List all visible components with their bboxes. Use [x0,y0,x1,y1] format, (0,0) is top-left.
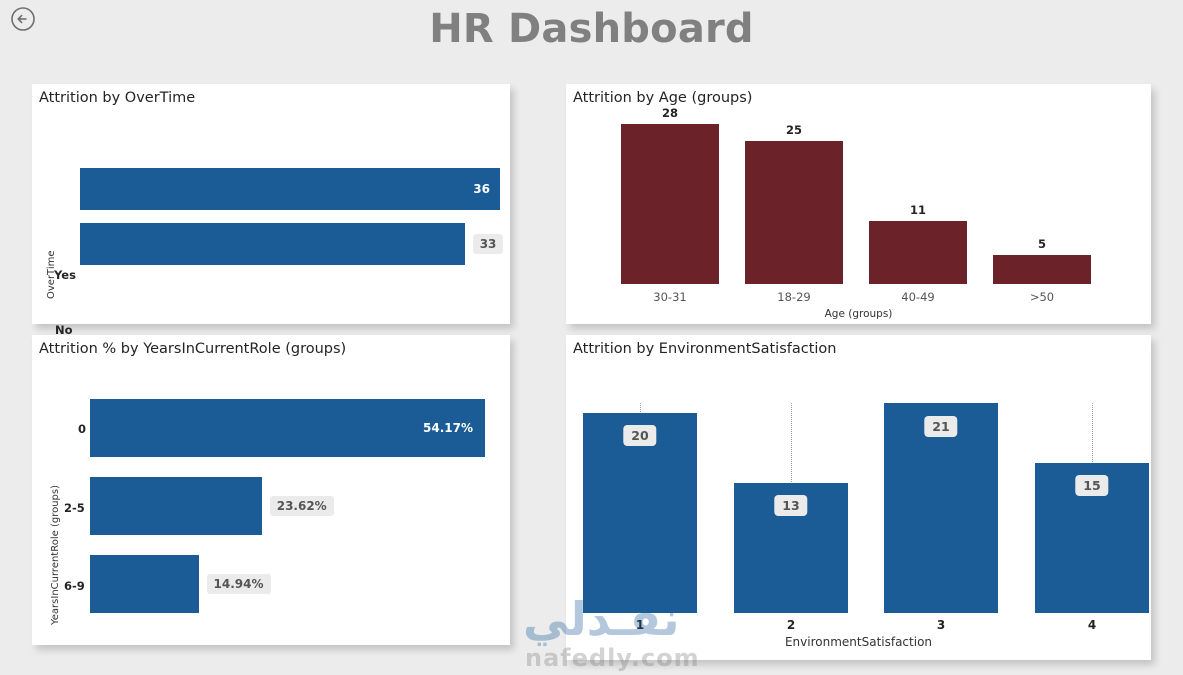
bar-value-label-yes: 36 [473,182,490,196]
bar-40-49[interactable] [869,221,967,284]
chart-title: Attrition % by YearsInCurrentRole (group… [39,341,346,357]
bar-row-yes[interactable]: 36 [80,168,500,210]
bar-value-label-over-50: 5 [993,237,1091,251]
bar-value-label-6-9: 14.94% [207,574,271,594]
chart-card-attrition-by-environmentsatisfaction[interactable]: Attrition by EnvironmentSatisfaction 20 … [566,335,1151,660]
x-tick-3: 3 [884,618,998,632]
chart-title: Attrition by Age (groups) [573,90,752,106]
bar-no[interactable] [80,223,465,265]
bar-col-40-49[interactable]: 11 [869,124,967,284]
app-header: HR Dashboard [0,0,1183,68]
bar-18-29[interactable] [745,141,843,284]
category-label-yes: Yes [54,268,76,282]
bar-value-label-2-5: 23.62% [270,496,334,516]
x-tick-1: 1 [583,618,697,632]
category-label-2-5: 2-5 [64,501,85,515]
plot-area: 28 25 11 5 [616,124,1116,284]
category-label-0: 0 [78,422,86,436]
bar-yes[interactable] [80,168,500,210]
bar-over-50[interactable] [993,255,1091,284]
chart-title: Attrition by EnvironmentSatisfaction [573,341,837,357]
bar-value-label-30-31: 28 [621,106,719,120]
bar-row-no[interactable]: 33 [80,223,500,265]
x-axis-title: EnvironmentSatisfaction [566,635,1151,649]
chart-card-attrition-by-age-groups[interactable]: Attrition by Age (groups) 28 25 11 5 30-… [566,84,1151,324]
chart-card-attrition-by-overtime[interactable]: Attrition by OverTime OverTime Yes No 36… [32,84,510,324]
x-tick-18-29: 18-29 [745,290,843,304]
bar-value-label-no: 33 [473,234,504,254]
bar-row-6-9[interactable]: 14.94% [90,555,485,613]
bar-value-label-3: 21 [924,416,957,437]
x-tick-4: 4 [1035,618,1149,632]
bar-row-0[interactable]: 54.17% [90,399,485,457]
x-tick-40-49: 40-49 [869,290,967,304]
bar-6-9[interactable] [90,555,199,613]
chart-card-attrition-pct-by-yearsincurrentrole[interactable]: Attrition % by YearsInCurrentRole (group… [32,335,510,645]
category-label-6-9: 6-9 [64,579,85,593]
bar-col-over-50[interactable]: 5 [993,124,1091,284]
bar-30-31[interactable] [621,124,719,284]
bar-col-4[interactable] [1035,403,1149,613]
plot-area: 54.17% 23.62% 14.94% [90,399,485,627]
bar-col-30-31[interactable]: 28 [621,124,719,284]
x-tick-over-50: >50 [993,290,1091,304]
bar-value-label-0: 54.17% [423,421,473,435]
bar-value-label-2: 13 [774,495,807,516]
y-axis-title: YearsInCurrentRole (groups) [50,485,61,625]
x-tick-30-31: 30-31 [621,290,719,304]
plot-area: 20 13 21 15 [574,403,1144,613]
bar-value-label-40-49: 11 [869,203,967,217]
bar-value-label-1: 20 [623,425,656,446]
page-title: HR Dashboard [0,6,1183,52]
x-tick-2: 2 [734,618,848,632]
bar-2-5[interactable] [90,477,262,535]
x-axis-title: Age (groups) [566,308,1151,320]
bar-value-label-4: 15 [1075,475,1108,496]
bar-value-label-18-29: 25 [745,123,843,137]
bar-row-2-5[interactable]: 23.62% [90,477,485,535]
chart-title: Attrition by OverTime [39,90,195,106]
plot-area: 36 33 [80,168,500,278]
bar-col-18-29[interactable]: 25 [745,124,843,284]
